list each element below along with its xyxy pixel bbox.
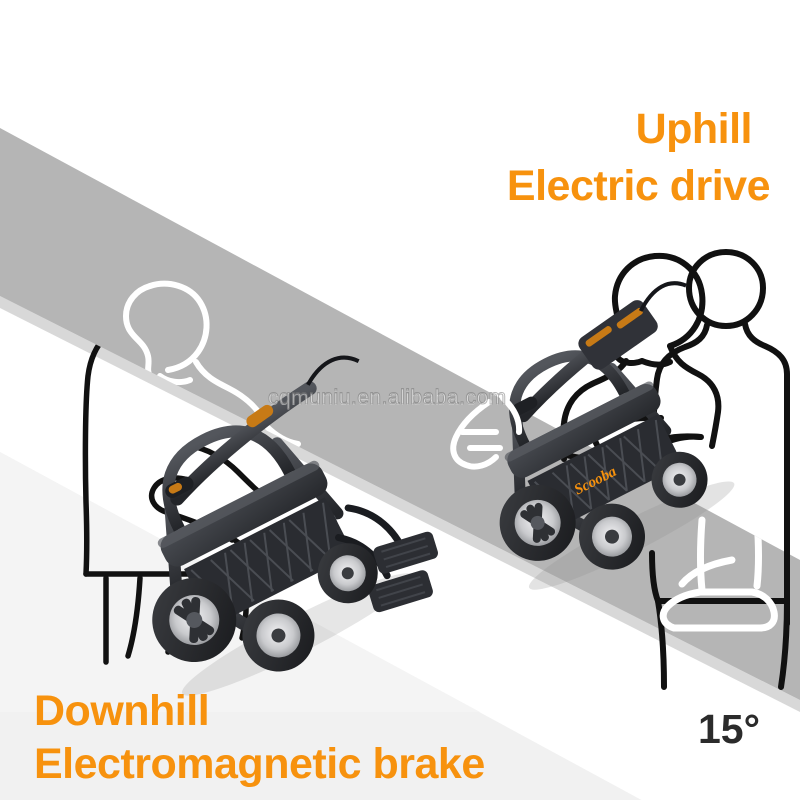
slope-angle-label: 15°: [698, 709, 760, 750]
product-feature-image: Scooba: [0, 0, 800, 800]
downhill-label-line1: Downhill: [34, 690, 209, 733]
uphill-label-line2: Electric drive: [507, 165, 770, 208]
uphill-label-line1: Uphill: [636, 108, 752, 151]
downhill-label-line2: Electromagnetic brake: [34, 743, 485, 786]
